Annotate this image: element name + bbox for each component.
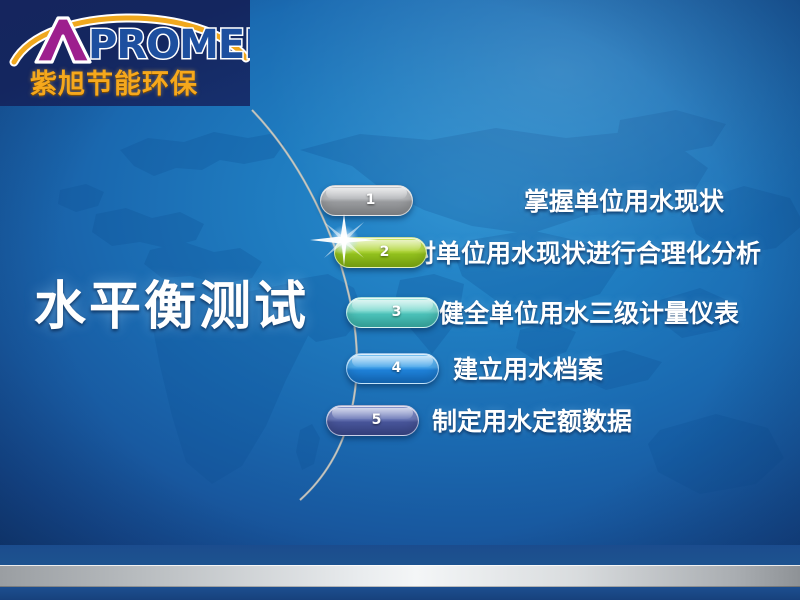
step-item-4[interactable]: 4 建立用水档案 — [346, 350, 603, 386]
step-label-1: 掌握单位用水现状 — [524, 182, 724, 218]
step-badge-4[interactable]: 4 — [346, 353, 439, 384]
step-number-5: 5 — [364, 412, 382, 428]
step-number-1: 1 — [358, 192, 376, 208]
slide-canvas: PROMEN 紫旭节能环保 水平衡测试 1 掌握单位用水现状 2 对单位用水现状… — [0, 0, 800, 600]
step-label-3: 健全单位用水三级计量仪表 — [439, 294, 739, 330]
footer-navy-top — [0, 545, 800, 565]
step-label-4: 建立用水档案 — [453, 350, 603, 386]
step-badge-5[interactable]: 5 — [326, 405, 419, 436]
step-badge-3[interactable]: 3 — [346, 297, 439, 328]
step-item-5[interactable]: 5 制定用水定额数据 — [326, 402, 632, 438]
step-number-4: 4 — [384, 360, 402, 376]
footer-navy-bottom — [0, 587, 800, 600]
step-item-2[interactable]: 2 对单位用水现状进行合理化分析 — [334, 234, 761, 270]
step-item-3[interactable]: 3 健全单位用水三级计量仪表 — [346, 294, 739, 330]
step-label-2: 对单位用水现状进行合理化分析 — [411, 234, 761, 270]
step-badge-1[interactable]: 1 — [320, 185, 413, 216]
step-list: 1 掌握单位用水现状 2 对单位用水现状进行合理化分析 3 健全单位用水三级计量… — [0, 0, 800, 600]
step-number-2: 2 — [372, 244, 390, 260]
footer-silver-band — [0, 565, 800, 587]
step-label-5: 制定用水定额数据 — [432, 402, 632, 438]
step-item-1[interactable]: 1 掌握单位用水现状 — [320, 182, 724, 218]
step-number-3: 3 — [384, 304, 402, 320]
step-badge-2[interactable]: 2 — [334, 237, 427, 268]
